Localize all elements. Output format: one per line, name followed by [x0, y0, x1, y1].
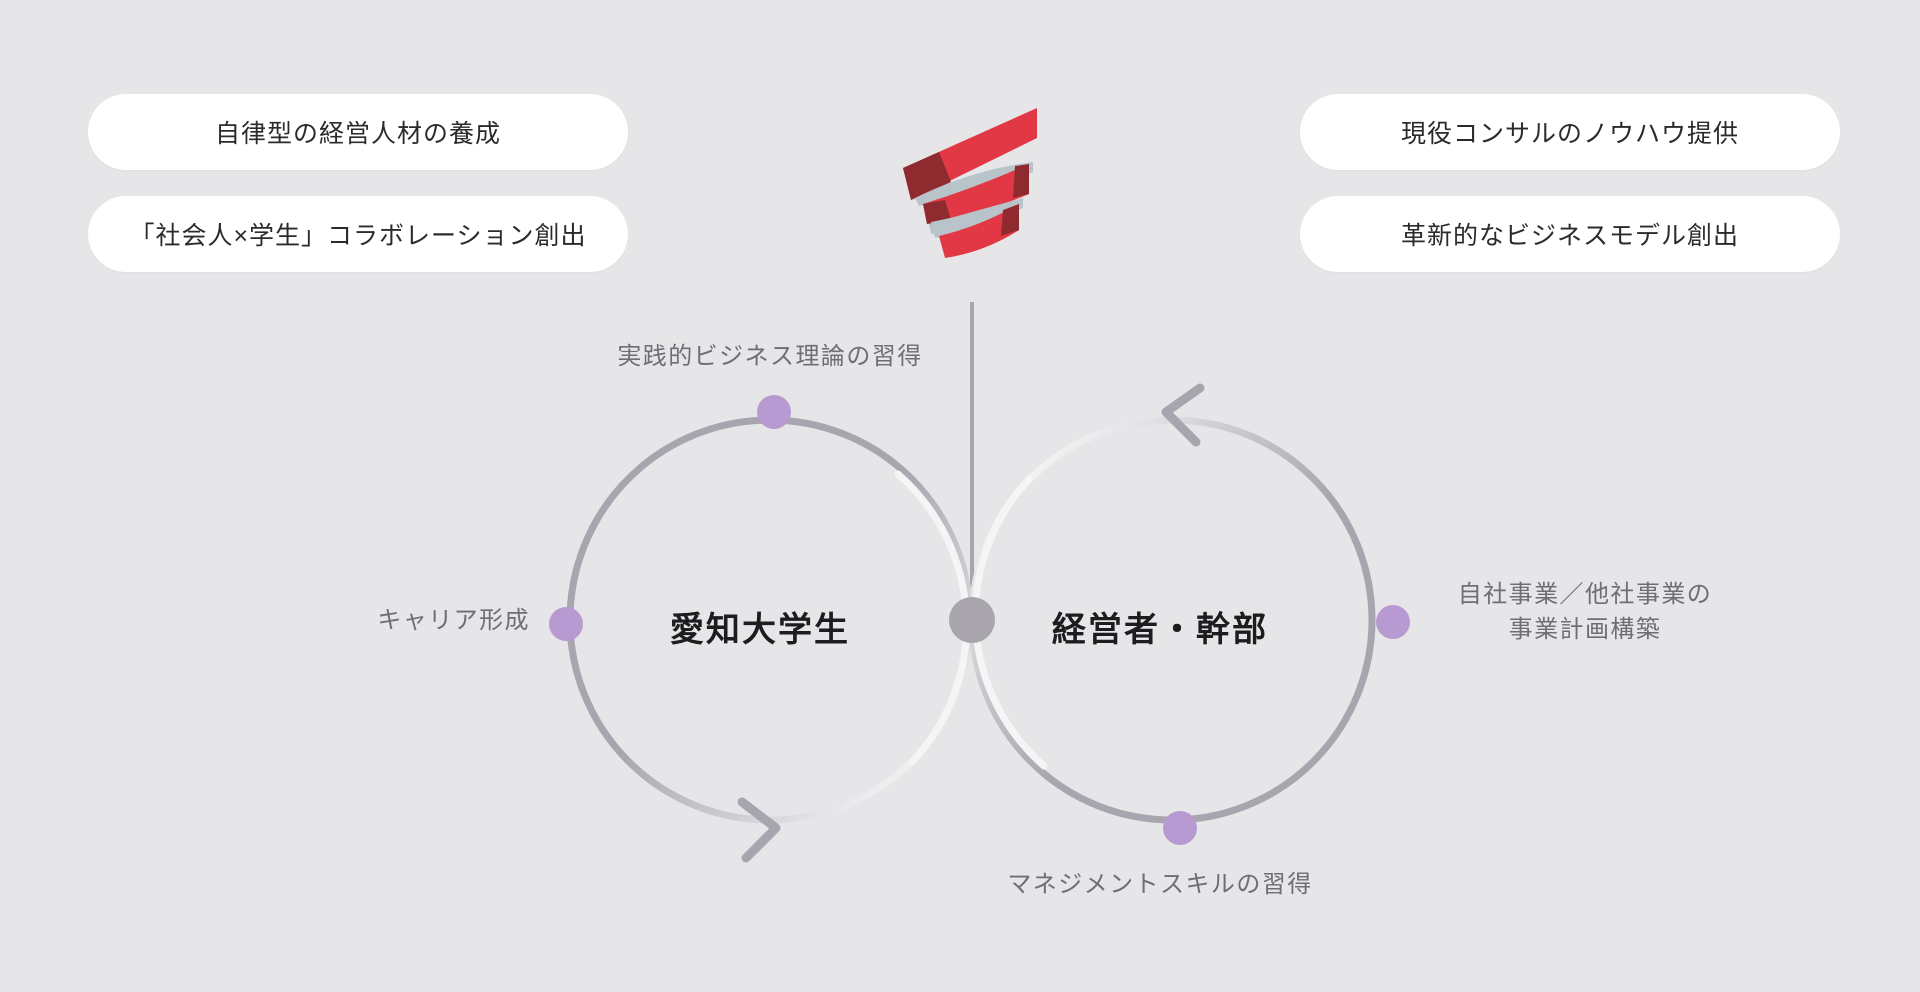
dot-top[interactable] [757, 395, 791, 429]
center-junction-dot [949, 597, 995, 643]
cycles-diagram [0, 0, 1920, 992]
dot-left[interactable] [549, 607, 583, 641]
arrow-left-cycle-icon [742, 802, 776, 858]
right-node-title: 経営者・幹部 [1000, 602, 1320, 651]
dot-bottom[interactable] [1163, 811, 1197, 845]
arrow-right-cycle-icon [1166, 388, 1200, 442]
diagram-canvas: 自律型の経営人材の養成 「社会人×学生」コラボレーション創出 現役コンサルのノウ… [0, 0, 1920, 992]
label-right-line1: 自社事業／他社事業の [1425, 578, 1745, 613]
label-right: 自社事業／他社事業の 事業計画構築 [1425, 578, 1745, 648]
label-left: キャリア形成 [300, 604, 530, 639]
label-right-line2: 事業計画構築 [1425, 613, 1745, 648]
left-node-title: 愛知大学生 [600, 602, 920, 651]
label-bottom: マネジメントスキルの習得 [930, 868, 1390, 903]
dot-right[interactable] [1376, 605, 1410, 639]
label-top: 実践的ビジネス理論の習得 [560, 340, 980, 375]
